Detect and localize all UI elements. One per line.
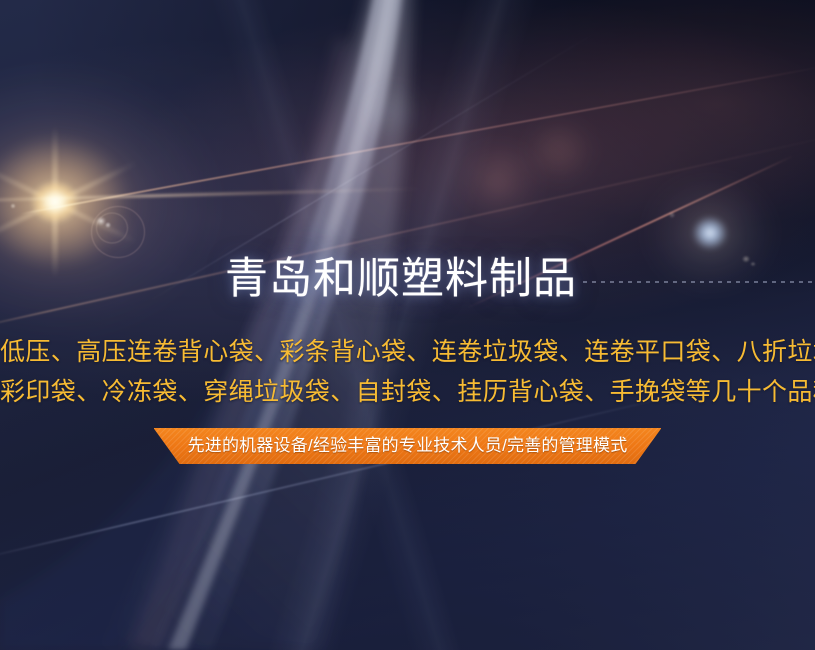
tagline-ribbon-wrap: 先进的机器设备/经验丰富的专业技术人员/完善的管理模式 <box>0 428 815 464</box>
product-line-2: 彩印袋、冷冻袋、穿绳垃圾袋、自封袋、挂历背心袋、手挽袋等几十个品种 <box>0 372 815 412</box>
ribbon-flap-right <box>633 428 661 464</box>
tagline-ribbon: 先进的机器设备/经验丰富的专业技术人员/完善的管理模式 <box>154 428 662 464</box>
page-title: 青岛和顺塑料制品 <box>0 250 577 308</box>
product-line-1: 低压、高压连卷背心袋、彩条背心袋、连卷垃圾袋、连卷平口袋、八折垃圾袋、 <box>0 332 815 372</box>
product-list: 低压、高压连卷背心袋、彩条背心袋、连卷垃圾袋、连卷平口袋、八折垃圾袋、 彩印袋、… <box>0 332 815 412</box>
title-dotted-rule <box>583 281 815 283</box>
banner-content: 青岛和顺塑料制品 低压、高压连卷背心袋、彩条背心袋、连卷垃圾袋、连卷平口袋、八折… <box>0 0 815 650</box>
tagline-text: 先进的机器设备/经验丰富的专业技术人员/完善的管理模式 <box>188 428 628 464</box>
ribbon-flap-left <box>154 428 182 464</box>
promo-banner: 青岛和顺塑料制品 低压、高压连卷背心袋、彩条背心袋、连卷垃圾袋、连卷平口袋、八折… <box>0 0 815 650</box>
title-row: 青岛和顺塑料制品 <box>0 248 815 310</box>
